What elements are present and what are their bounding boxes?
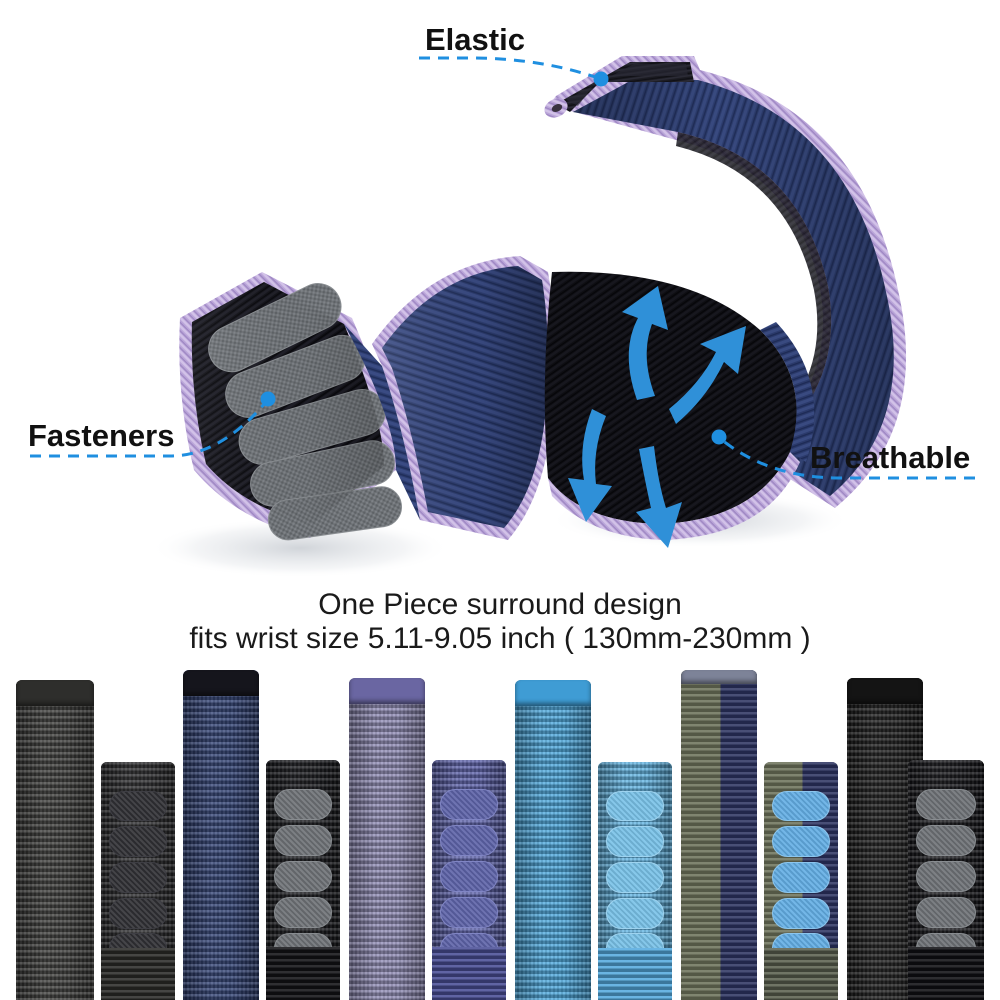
swatch-dark-gray-loop-fasteners[interactable] [101, 762, 175, 1000]
fastener-pad [274, 789, 332, 820]
swatch-foot-weave [764, 948, 838, 1000]
fastener-pad [606, 862, 664, 893]
swatch-foot-weave [908, 947, 984, 1000]
band-left-fastener-arm [179, 272, 420, 542]
fastener-pad [109, 791, 167, 822]
swatch-navy-lavender-loop-tall[interactable] [183, 670, 259, 1000]
fastener-pad [440, 789, 498, 820]
leader-dot-elastic [594, 72, 609, 87]
fastener-pad [772, 791, 830, 822]
fastener-pad [440, 861, 498, 892]
fastener-pad [916, 825, 975, 856]
fastener-pad [916, 897, 975, 928]
infographic-root: Elastic Fasteners Breathable One Piece s… [0, 0, 1000, 1000]
fastener-pad [109, 898, 167, 929]
callout-label-fasteners: Fasteners [28, 418, 174, 454]
swatch-foot-weave [266, 947, 340, 1000]
swatch-dark-gray-loop-tall[interactable] [16, 680, 94, 1000]
fastener-pad [916, 789, 975, 820]
swatch-top-cap [847, 678, 923, 704]
fastener-pad [606, 826, 664, 857]
swatch-violet-blue-fasteners[interactable] [432, 760, 506, 1000]
swatch-weave-texture [515, 680, 591, 1000]
fastener-pad [274, 897, 332, 928]
swatch-top-cap [183, 670, 259, 696]
swatch-weave-texture [16, 680, 94, 1000]
swatch-weave-texture [681, 670, 757, 1000]
color-swatch-gallery [0, 665, 1000, 1000]
fastener-pad [772, 898, 830, 929]
leader-dot-breathable [712, 430, 727, 445]
swatch-foot-weave [101, 948, 175, 1000]
swatch-top-cap [515, 680, 591, 706]
fastener-pad [916, 861, 975, 892]
swatch-lavender-heather-tall[interactable] [349, 678, 425, 1000]
fastener-pad [274, 825, 332, 856]
swatch-weave-texture [183, 670, 259, 1000]
fastener-pad [606, 898, 664, 929]
swatch-light-blue-loop-tall[interactable] [515, 680, 591, 1000]
fastener-pad [109, 862, 167, 893]
fastener-pad [274, 861, 332, 892]
watch-band-svg [0, 0, 1000, 665]
swatch-black-gray-fasteners[interactable] [908, 760, 984, 1000]
swatch-olive-navy-loop-tall[interactable] [681, 670, 757, 1000]
swatch-foot-weave [432, 947, 506, 1000]
swatch-top-cap [349, 678, 425, 704]
fastener-pad [606, 791, 664, 822]
swatch-weave-texture [349, 678, 425, 1000]
fastener-pad [772, 862, 830, 893]
leader-line-elastic [419, 58, 598, 78]
fastener-pad [440, 897, 498, 928]
swatch-olive-navy-fasteners[interactable] [764, 762, 838, 1000]
swatch-black-loop-fasteners[interactable] [266, 760, 340, 1000]
fastener-pad [772, 826, 830, 857]
swatch-foot-weave [598, 948, 672, 1000]
swatch-sky-blue-fasteners[interactable] [598, 762, 672, 1000]
swatch-top-cap [16, 680, 94, 706]
callout-label-breathable: Breathable [810, 440, 970, 476]
fastener-pad [440, 825, 498, 856]
caption-line-2: fits wrist size 5.11-9.05 inch ( 130mm-2… [0, 622, 1000, 655]
fastener-pad [109, 826, 167, 857]
callout-label-elastic: Elastic [425, 22, 525, 58]
caption-line-1: One Piece surround design [0, 588, 1000, 621]
swatch-top-cap [681, 670, 757, 684]
leader-dot-fasteners [261, 392, 276, 407]
hero-product-illustration: Elastic Fasteners Breathable [0, 0, 1000, 665]
